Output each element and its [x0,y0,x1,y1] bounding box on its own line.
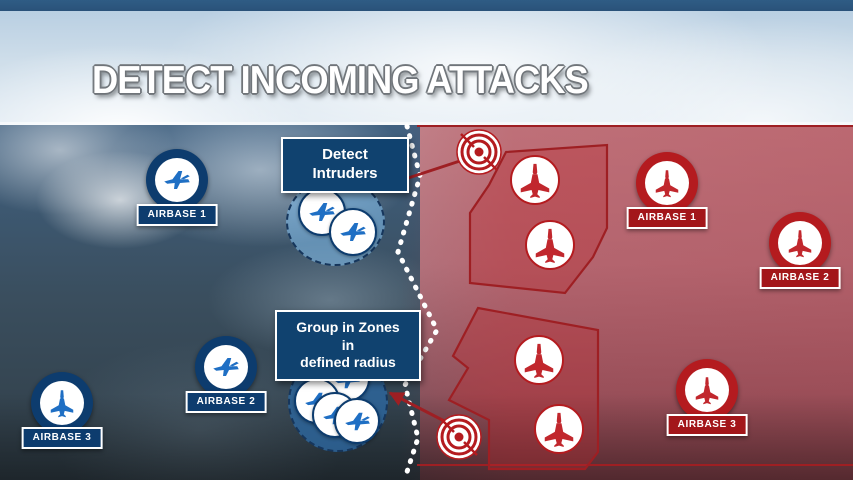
airbase-label: AIRBASE 1 [137,204,218,226]
callout-line-1: Detect [295,146,395,165]
marker-inner-circle [155,158,199,202]
callout-line-2: defined radius [289,354,407,372]
jet-side-icon [338,217,368,247]
airbase-label: AIRBASE 1 [627,207,708,229]
jet-front-icon [47,388,77,418]
marker-inner-circle [685,368,729,412]
marker-inner-circle [645,161,689,205]
jet-front-icon [652,168,682,198]
callout-line-2: Intruders [295,165,395,184]
jet-side-icon [211,352,241,382]
callout-line-1: Group in Zones in [289,319,407,354]
marker-disc [769,212,831,274]
jet-front-icon [692,375,722,405]
marker-disc [146,149,208,211]
red-zone-jet [515,336,563,384]
airbase-label: AIRBASE 3 [667,414,748,436]
airbase-label: AIRBASE 3 [22,427,103,449]
red-zone-jet [511,156,559,204]
jet-side-icon [343,407,372,436]
jet-front-icon [785,228,815,258]
callout-detect-intruders[interactable]: Detect Intruders [281,137,409,193]
slide-canvas: DETECT INCOMING ATTACKS [0,0,853,480]
marker-disc [636,152,698,214]
airbase-label: AIRBASE 2 [760,267,841,289]
radar-target-upper[interactable] [457,130,501,174]
zone-jet-marker [329,208,377,256]
marker-inner-circle [204,345,248,389]
airbase-label: AIRBASE 2 [186,391,267,413]
marker-inner-circle [778,221,822,265]
callout-group-in-zones[interactable]: Group in Zones in defined radius [275,310,421,381]
zone-jet-marker [334,398,380,444]
marker-disc [676,359,738,421]
radar-target-lower[interactable] [437,415,481,459]
jet-side-icon [162,165,192,195]
marker-inner-circle [40,381,84,425]
marker-disc [195,336,257,398]
red-zone-jet [526,221,574,269]
red-zone-jet [535,405,583,453]
marker-disc [31,372,93,434]
